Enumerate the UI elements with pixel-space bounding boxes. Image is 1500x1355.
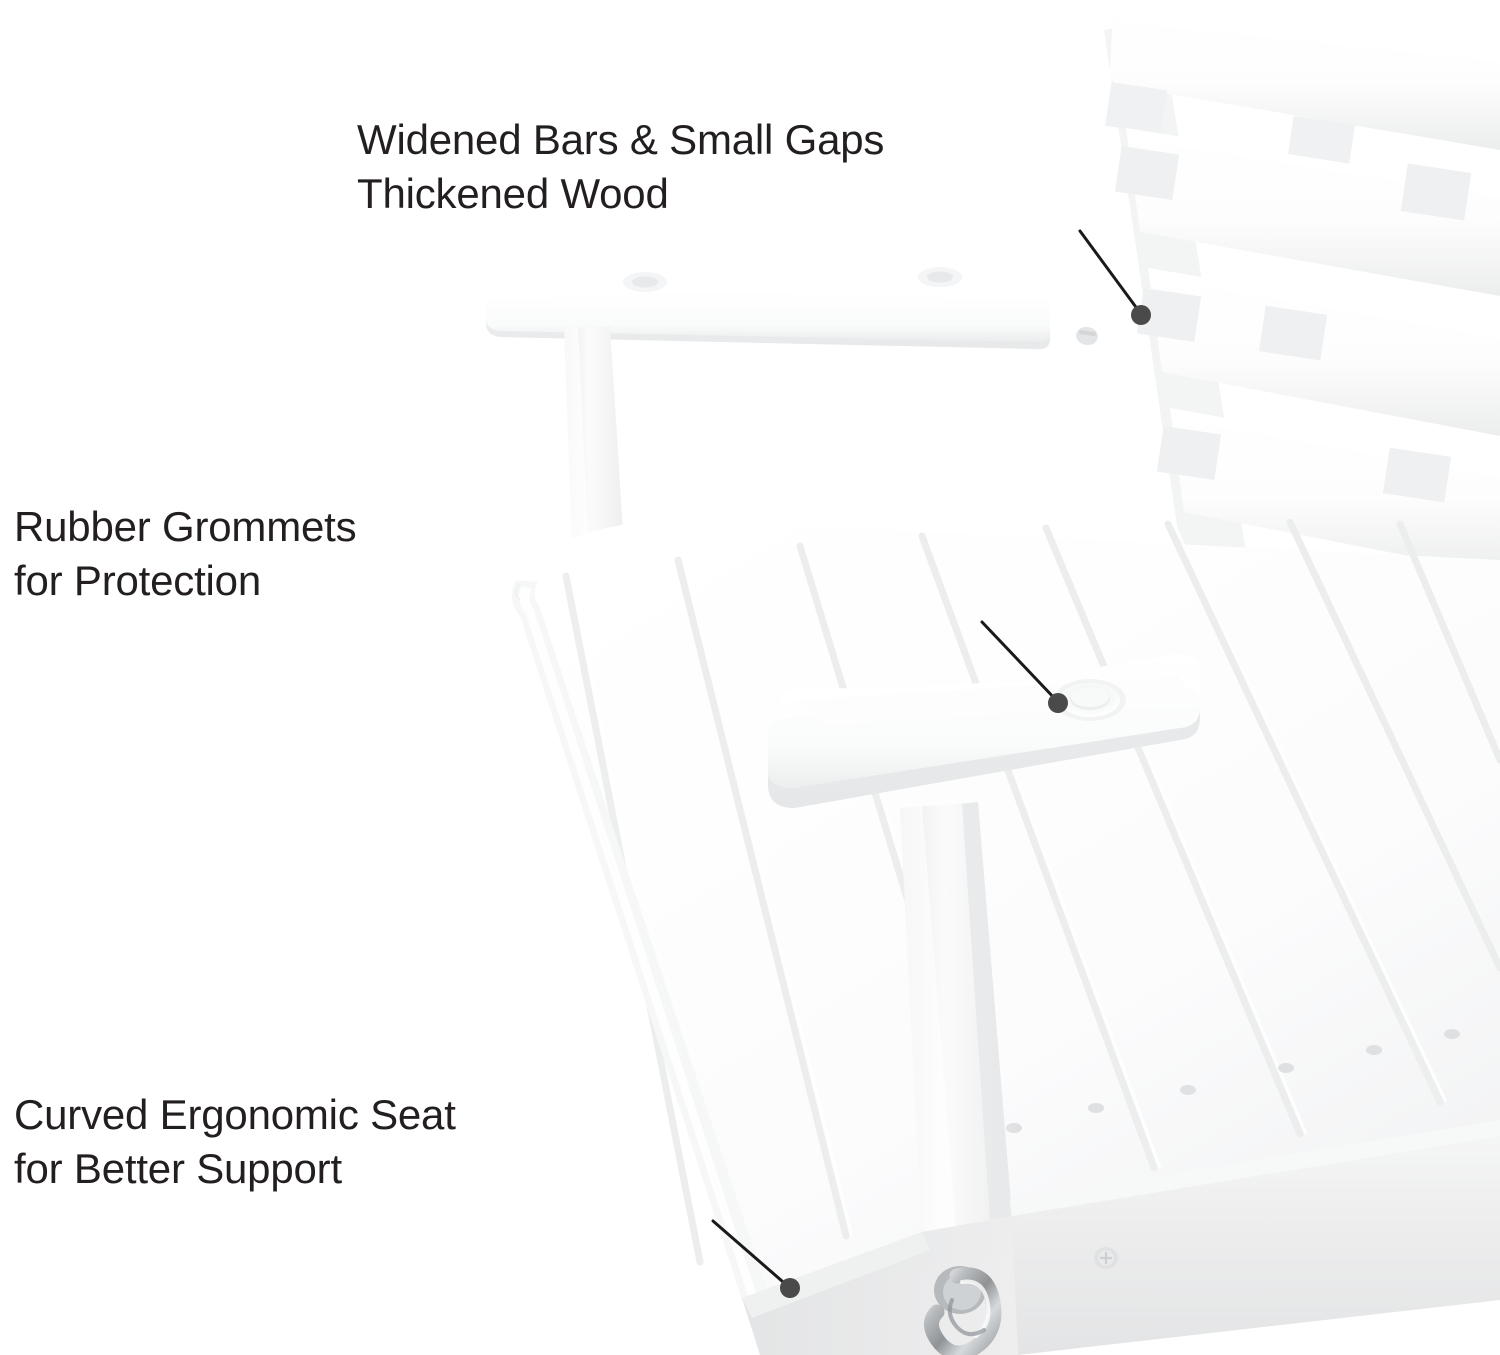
- product-feature-callout-image: Widened Bars & Small Gaps Thickened Wood…: [0, 0, 1500, 1355]
- leader-line-widened-bars: [1080, 231, 1141, 314]
- leader-dot-rubber-grommets: [1048, 693, 1068, 713]
- leader-dot-curved-seat: [780, 1278, 800, 1298]
- annotation-layer: Widened Bars & Small Gaps Thickened Wood…: [0, 0, 1500, 1355]
- leader-line-rubber-grommets: [982, 622, 1058, 702]
- leader-dot-widened-bars: [1131, 305, 1151, 325]
- leader-line-curved-seat: [713, 1221, 790, 1288]
